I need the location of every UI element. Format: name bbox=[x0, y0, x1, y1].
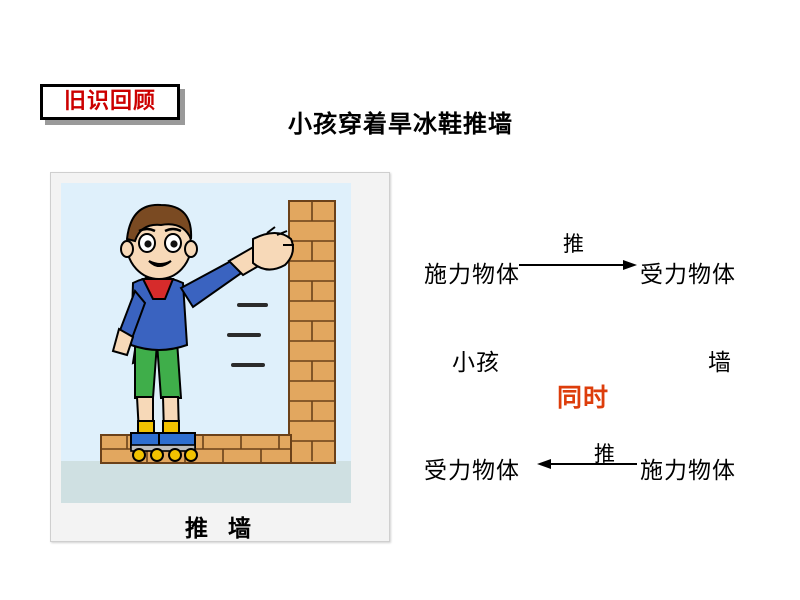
page-title: 小孩穿着旱冰鞋推墙 bbox=[288, 104, 513, 139]
diagram-row3-right-label: 施力物体 bbox=[640, 451, 736, 485]
section-badge: 旧识回顾 bbox=[40, 84, 180, 120]
illustration-boy-pushing-wall bbox=[61, 183, 351, 503]
diagram-row2-right-label: 墙 bbox=[708, 343, 732, 377]
diagram-row1-arrow-label: 推 bbox=[563, 228, 585, 258]
brick-wall bbox=[289, 201, 335, 463]
illustration-frame: 推 墙 bbox=[50, 172, 390, 542]
illustration-svg bbox=[61, 183, 351, 503]
arrow-right-icon bbox=[519, 258, 637, 272]
diagram-row1-right-label: 受力物体 bbox=[640, 255, 736, 289]
diagram-row2-left-label: 小孩 bbox=[452, 343, 500, 377]
badge-box: 旧识回顾 bbox=[40, 84, 180, 120]
diagram-row1-left-label: 施力物体 bbox=[424, 255, 520, 289]
diagram-row3-left-label: 受力物体 bbox=[424, 451, 520, 485]
badge-label: 旧识回顾 bbox=[64, 91, 156, 113]
simultaneous-label: 同时 bbox=[557, 378, 609, 414]
arrow-left-icon bbox=[537, 457, 637, 471]
illustration-caption: 推 墙 bbox=[51, 509, 391, 543]
